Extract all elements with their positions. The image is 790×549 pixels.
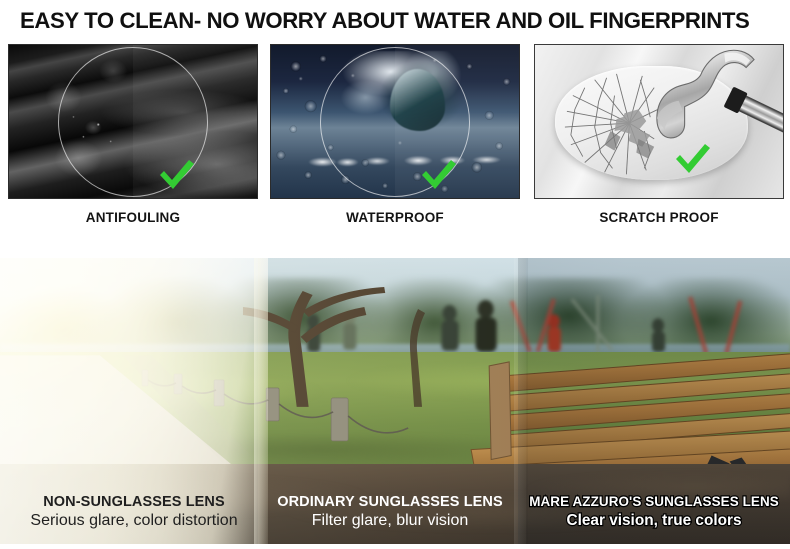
smudged-lens-surface	[9, 45, 257, 198]
feature-panel-row: ANTIFOULING WATERPROOF	[0, 44, 790, 234]
hammer-icon	[639, 44, 784, 189]
water-droplets	[271, 45, 519, 198]
feature-antifouling-caption: ANTIFOULING	[8, 210, 258, 225]
comparison-label-title: MARE AZZURO'S SUNGLASSES LENS	[529, 494, 779, 510]
comparison-label-mare-azzuro: MARE AZZURO'S SUNGLASSES LENS Clear visi…	[524, 494, 784, 530]
feature-antifouling: ANTIFOULING	[8, 44, 258, 225]
chain-posts	[126, 350, 426, 453]
comparison-label-title: NON-SUNGLASSES LENS	[14, 494, 254, 510]
comparison-label-subtitle: Serious glare, color distortion	[14, 512, 254, 530]
feature-scratch-proof-image	[534, 44, 784, 199]
comparison-label-subtitle: Filter glare, blur vision	[270, 512, 510, 530]
comparison-label-title: ORDINARY SUNGLASSES LENS	[270, 494, 510, 510]
page-title: EASY TO CLEAN- NO WORRY ABOUT WATER AND …	[20, 6, 765, 36]
comparison-label-non-sunglasses: NON-SUNGLASSES LENS Serious glare, color…	[14, 494, 254, 530]
feature-waterproof: WATERPROOF	[270, 44, 520, 225]
lens-comparison-photo: NON-SUNGLASSES LENS Serious glare, color…	[0, 258, 790, 544]
feature-waterproof-caption: WATERPROOF	[270, 210, 520, 225]
comparison-label-ordinary: ORDINARY SUNGLASSES LENS Filter glare, b…	[270, 494, 510, 530]
comparison-label-subtitle: Clear vision, true colors	[529, 512, 779, 530]
feature-scratch-proof-caption: SCRATCH PROOF	[534, 210, 784, 225]
feature-antifouling-image	[8, 44, 258, 199]
feature-banner: EASY TO CLEAN- NO WORRY ABOUT WATER AND …	[0, 0, 790, 549]
feature-waterproof-image	[270, 44, 520, 199]
feature-scratch-proof: SCRATCH PROOF	[534, 44, 784, 225]
